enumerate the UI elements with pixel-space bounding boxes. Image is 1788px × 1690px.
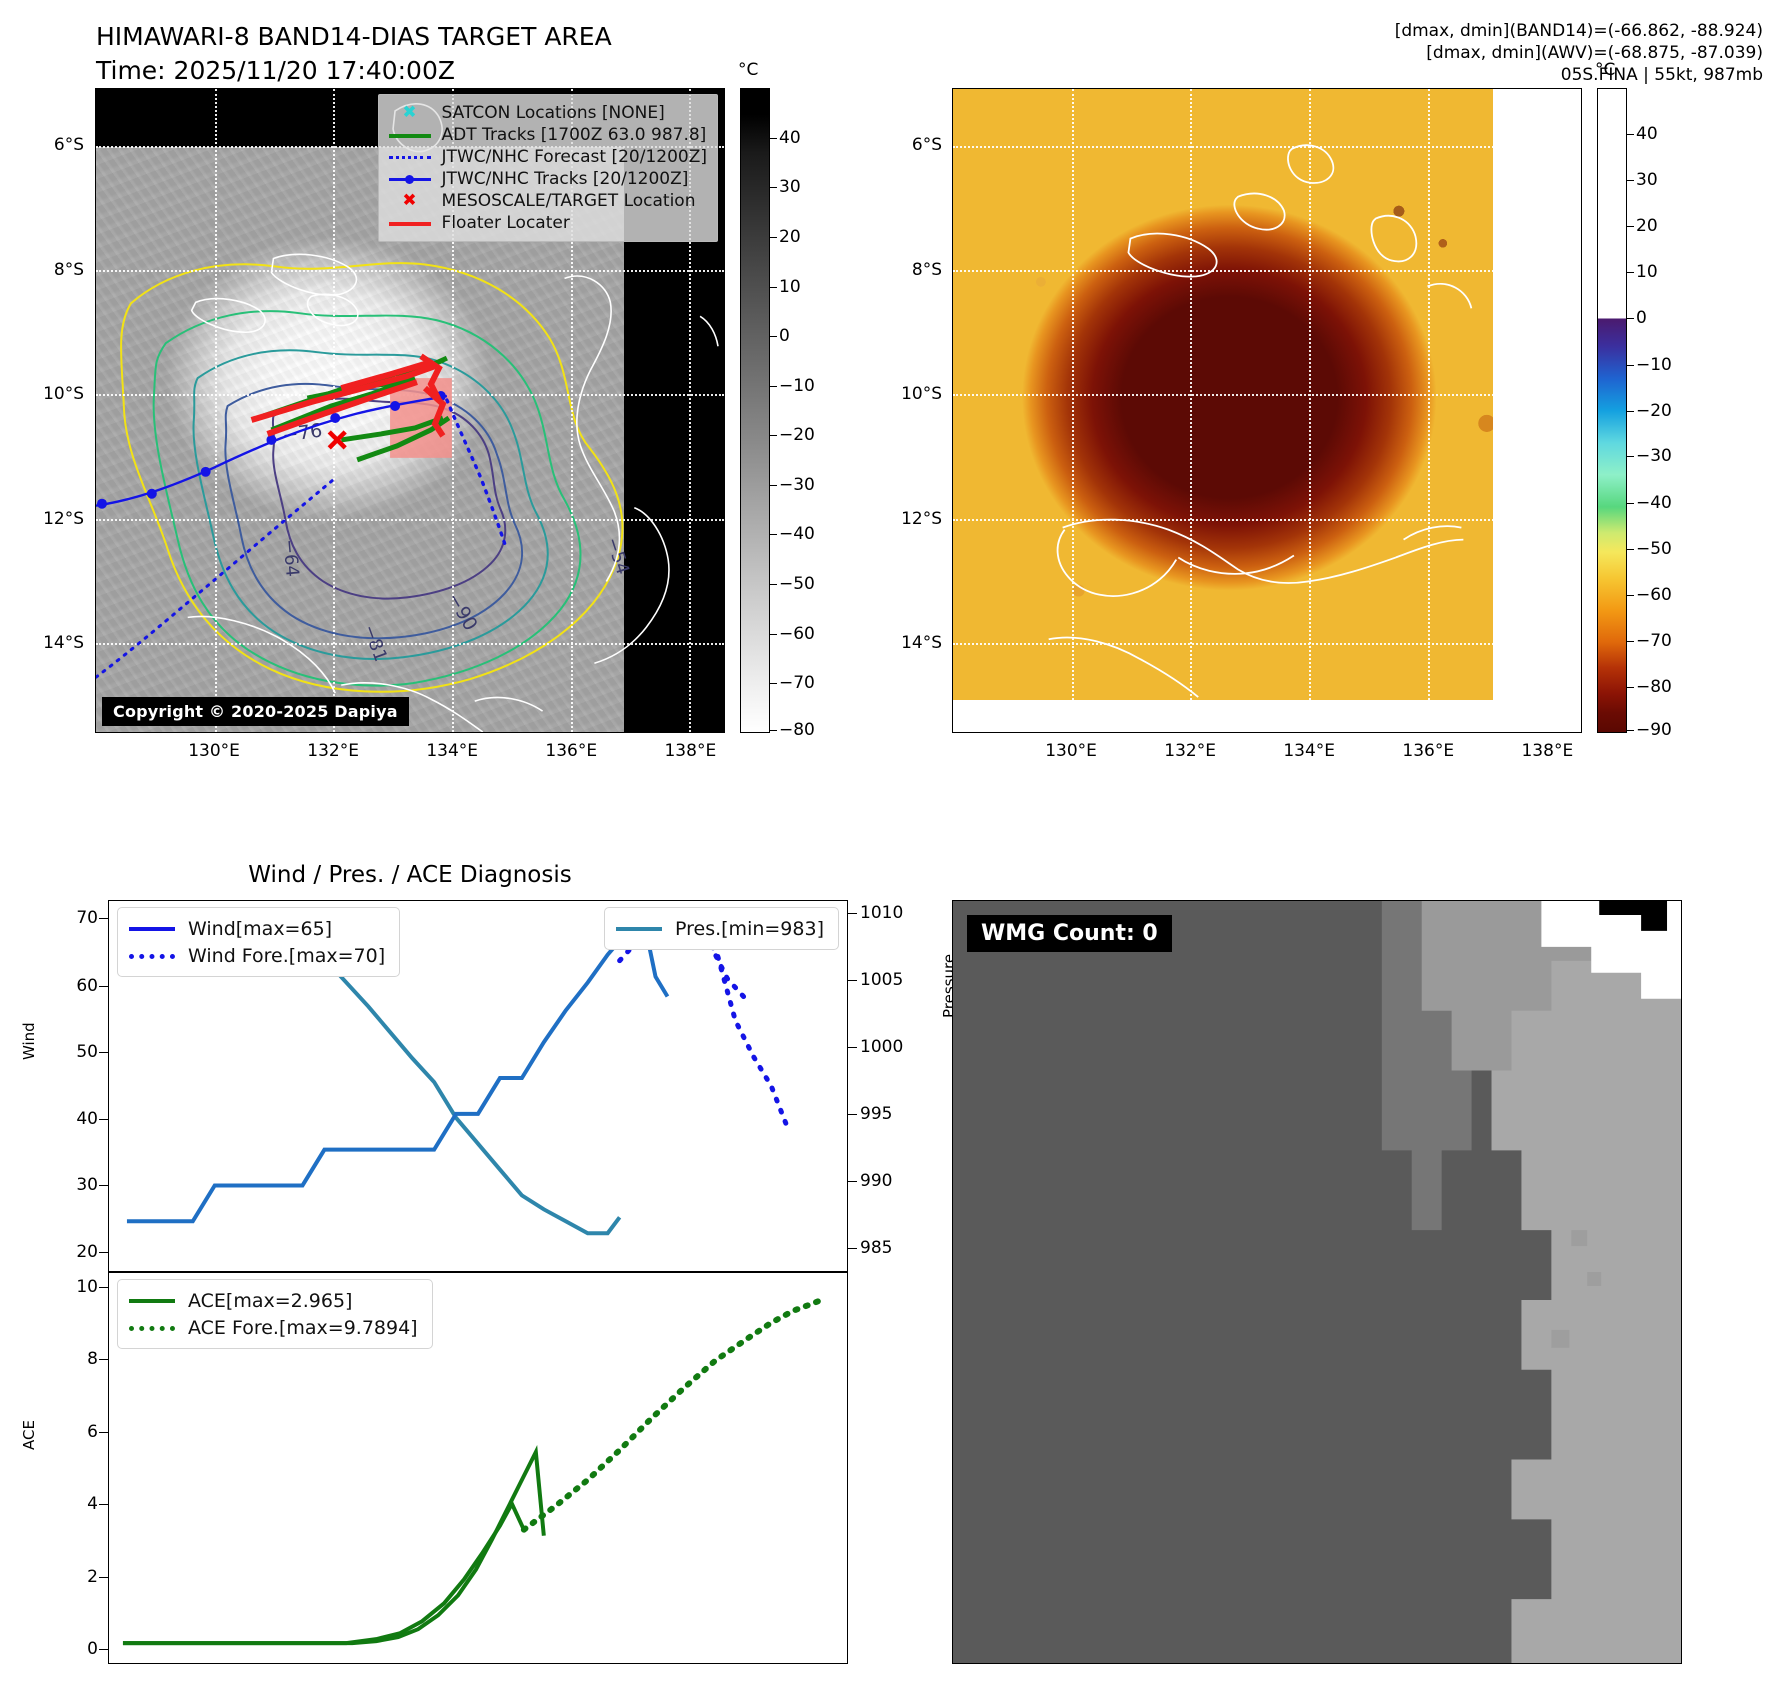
lon-tick: 130°E (1045, 741, 1097, 761)
header-stats: [dmax, dmin](BAND14)=(-66.862, -88.924) … (1395, 20, 1763, 86)
lat-tick: 10°S (43, 384, 84, 404)
satellite-map-bd-enhanced[interactable] (952, 88, 1582, 733)
ace-legend: ACE[max=2.965] ACE Fore.[max=9.7894] (117, 1279, 433, 1349)
legend-label: Wind Fore.[max=70] (188, 945, 385, 967)
y-tick-right: 1010 (860, 903, 903, 923)
ace-series-main (123, 1504, 524, 1643)
legend-item-floater[interactable]: Floater Locater (387, 212, 707, 234)
pressure-forecast-series (663, 919, 789, 1132)
legend-label: ACE Fore.[max=9.7894] (188, 1317, 418, 1339)
colorbar-gradient-gray (740, 88, 770, 733)
lat-tick: 8°S (54, 260, 84, 280)
dotted-line-icon (387, 149, 433, 165)
legend-item-wind-forecast[interactable]: Wind Fore.[max=70] (127, 942, 385, 969)
left-map-lat-axis: 6°S 8°S 10°S 12°S 14°S (0, 88, 90, 733)
lat-tick: 14°S (43, 633, 84, 653)
legend-item-mesoscale[interactable]: ✖ MESOSCALE/TARGET Location (387, 190, 707, 212)
y-tick: 6 (87, 1422, 98, 1442)
lat-tick: 14°S (901, 633, 942, 653)
lon-tick: 136°E (545, 741, 597, 761)
lat-tick: 6°S (912, 135, 942, 155)
y-tick: 2 (87, 1567, 98, 1587)
pressure-legend: Pres.[min=983] (604, 907, 839, 950)
ace-chart[interactable]: ACE[max=2.965] ACE Fore.[max=9.7894] (108, 1272, 848, 1664)
lon-tick: 138°E (664, 741, 716, 761)
legend-label: JTWC/NHC Forecast [20/1200Z] (442, 147, 707, 167)
wmg-panel[interactable]: WMG Count: 0 (952, 900, 1682, 1664)
y-tick: 8 (87, 1349, 98, 1369)
page-title: HIMAWARI-8 BAND14-DIAS TARGET AREA Time:… (96, 20, 612, 88)
legend-label: SATCON Locations [NONE] (442, 103, 665, 123)
solid-line-icon (387, 215, 433, 231)
wmg-mask-image (953, 901, 1681, 1663)
colorbar-unit-label: °C (738, 60, 758, 80)
lat-tick: 12°S (901, 509, 942, 529)
colorbar-ticks: 40 30 20 10 0 −10 −20 −30 −40 −50 −60 −7… (770, 88, 832, 733)
line-with-dot-icon (387, 171, 433, 187)
legend-item-jtwc-forecast[interactable]: JTWC/NHC Forecast [20/1200Z] (387, 146, 707, 168)
legend-item-satcon[interactable]: ✖ SATCON Locations [NONE] (387, 102, 707, 124)
lon-tick: 130°E (188, 741, 240, 761)
y-tick: 30 (76, 1175, 98, 1195)
legend-label: Wind[max=65] (188, 918, 332, 940)
y-tick-right: 1000 (860, 1037, 903, 1057)
lat-tick: 12°S (43, 509, 84, 529)
colorbar-gradient-bd (1597, 88, 1627, 733)
solid-line-icon (387, 127, 433, 143)
colorbar-unit-label: °C (1595, 60, 1615, 80)
legend-label: MESOSCALE/TARGET Location (442, 191, 696, 211)
dotted-line-icon (127, 949, 177, 963)
y-tick-right: 985 (860, 1238, 892, 1258)
y-tick-right: 1005 (860, 970, 903, 990)
copyright-banner: Copyright © 2020-2025 Dapiya (102, 697, 409, 726)
lat-tick: 6°S (54, 135, 84, 155)
y-tick: 50 (76, 1042, 98, 1062)
bd-nodata-bottom (953, 700, 1581, 732)
right-map-lon-axis: 130°E 132°E 134°E 136°E 138°E (952, 733, 1582, 763)
y-tick-right: 995 (860, 1104, 892, 1124)
legend-label: ADT Tracks [1700Z 63.0 987.8] (442, 125, 707, 145)
x-marker-icon: ✖ (387, 193, 433, 209)
legend-label: JTWC/NHC Tracks [20/1200Z] (442, 169, 689, 189)
legend-label: Pres.[min=983] (675, 918, 824, 940)
legend-item-ace[interactable]: ACE[max=2.965] (127, 1287, 418, 1314)
y-tick: 40 (76, 1109, 98, 1129)
legend-item-adt[interactable]: ADT Tracks [1700Z 63.0 987.8] (387, 124, 707, 146)
lon-tick: 136°E (1402, 741, 1454, 761)
ace-axis-label: ACE (20, 1420, 38, 1450)
bd-nodata-right (1493, 89, 1581, 732)
y-tick: 0 (87, 1639, 98, 1659)
ace-forecast-series (524, 1301, 819, 1530)
solid-line-icon (127, 1294, 177, 1308)
legend-item-wind[interactable]: Wind[max=65] (127, 915, 385, 942)
lat-tick: 8°S (912, 260, 942, 280)
wmg-count-badge: WMG Count: 0 (967, 915, 1172, 952)
legend-item-pressure[interactable]: Pres.[min=983] (614, 915, 824, 942)
legend-item-jtwc-tracks[interactable]: JTWC/NHC Tracks [20/1200Z] (387, 168, 707, 190)
ace-series (123, 1452, 544, 1643)
lon-tick: 138°E (1521, 741, 1573, 761)
satellite-map-ir[interactable]: −76 −90 −81 −64 −54 (95, 88, 725, 733)
map-legend: ✖ SATCON Locations [NONE] ADT Tracks [17… (378, 94, 718, 242)
lon-tick: 132°E (307, 741, 359, 761)
y-tick: 4 (87, 1494, 98, 1514)
y-tick: 70 (76, 908, 98, 928)
y-tick-right: 990 (860, 1171, 892, 1191)
wind-axis-label: Wind (20, 1022, 38, 1060)
solid-line-icon (614, 922, 664, 936)
lat-tick: 10°S (901, 384, 942, 404)
storm-id-text: 05S.FINA | 55kt, 987mb (1395, 64, 1763, 86)
x-marker-icon: ✖ (387, 105, 433, 121)
wind-pressure-chart[interactable]: Wind[max=65] Wind Fore.[max=70] Pres.[mi… (108, 900, 848, 1272)
dmax-awv-text: [dmax, dmin](AWV)=(-68.875, -87.039) (1395, 42, 1763, 64)
bd-convective-cells (953, 89, 1581, 732)
dotted-line-icon (127, 1321, 177, 1335)
page-title-main: HIMAWARI-8 BAND14-DIAS TARGET AREA (96, 20, 612, 54)
y-tick: 60 (76, 976, 98, 996)
lon-tick: 132°E (1164, 741, 1216, 761)
y-tick: 10 (76, 1277, 98, 1297)
legend-item-ace-forecast[interactable]: ACE Fore.[max=9.7894] (127, 1314, 418, 1341)
solid-line-icon (127, 922, 177, 936)
colorbar-ticks: 40 30 20 10 0 −10 −20 −30 −40 −50 −60 −7… (1627, 88, 1689, 733)
lon-tick: 134°E (426, 741, 478, 761)
right-map-lat-axis: 6°S 8°S 10°S 12°S 14°S (862, 88, 948, 733)
legend-label: Floater Locater (442, 213, 570, 233)
y-tick: 20 (76, 1242, 98, 1262)
left-map-lon-axis: 130°E 132°E 134°E 136°E 138°E (95, 733, 725, 763)
charts-title: Wind / Pres. / ACE Diagnosis (95, 862, 725, 888)
bd-colorbar: °C 40 30 20 10 0 −10 −20 −30 −40 −50 −60… (1597, 88, 1689, 733)
wind-legend: Wind[max=65] Wind Fore.[max=70] (117, 907, 400, 977)
dmax-band14-text: [dmax, dmin](BAND14)=(-66.862, -88.924) (1395, 20, 1763, 42)
page-title-time: Time: 2025/11/20 17:40:00Z (96, 54, 612, 88)
lon-tick: 134°E (1283, 741, 1335, 761)
ir-colorbar: °C 40 30 20 10 0 −10 −20 −30 −40 −50 −60… (740, 88, 832, 733)
legend-label: ACE[max=2.965] (188, 1290, 352, 1312)
